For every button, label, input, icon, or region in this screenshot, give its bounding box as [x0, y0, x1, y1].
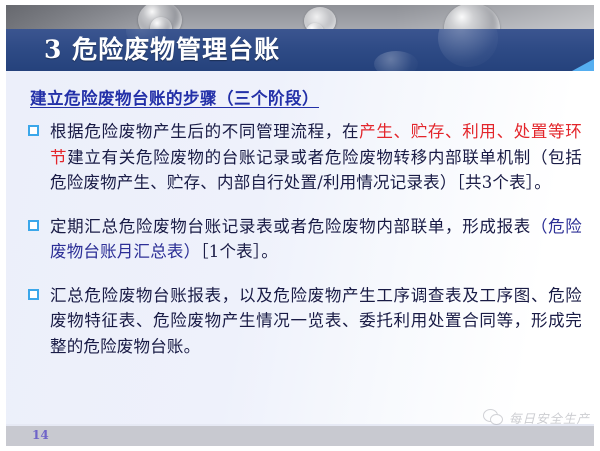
slide-footer: 14 [6, 426, 594, 446]
bullet-paragraph-2: 定期汇总危险废物台账记录表或者危险废物内部联单，形成报表（危险废物台账月汇总表）… [50, 214, 582, 265]
slide-content: 建立危险废物台账的步骤（三个阶段） 根据危险废物产生后的不同管理流程，在产生、贮… [6, 71, 594, 426]
text-segment-normal: ［1个表］。 [200, 242, 278, 261]
content-subheading: 建立危险废物台账的步骤（三个阶段） [30, 85, 319, 109]
square-bullet-icon [28, 220, 39, 231]
water-droplet-icon [438, 29, 498, 67]
square-bullet-icon [28, 289, 39, 300]
text-segment-normal: 建立有关危险废物的台账记录或者危险废物转移内部联单机制（包括危险废物产生、贮存、… [50, 148, 582, 193]
text-segment-normal: 根据危险废物产生后的不同管理流程，在 [50, 122, 359, 141]
text-segment-normal: 汇总危险废物台账报表，以及危险废物产生工序调查表及工序图、危险废物特征表、危险废… [50, 286, 582, 356]
bullet-list: 根据危险废物产生后的不同管理流程，在产生、贮存、利用、处置等环节建立有关危险废物… [26, 119, 582, 377]
list-item: 汇总危险废物台账报表，以及危险废物产生工序调查表及工序图、危险废物特征表、危险废… [26, 283, 582, 360]
slide-title: 3 危险废物管理台账 [44, 31, 280, 69]
list-item: 根据危险废物产生后的不同管理流程，在产生、贮存、利用、处置等环节建立有关危险废物… [26, 119, 582, 196]
page-number: 14 [32, 428, 49, 442]
presentation-slide: 3 危险废物管理台账 建立危险废物台账的步骤（三个阶段） 根据危险废物产生后的不… [0, 0, 600, 451]
water-droplet-icon [374, 51, 418, 71]
list-item: 定期汇总危险废物台账记录表或者危险废物内部联单，形成报表（危险废物台账月汇总表）… [26, 214, 582, 265]
square-bullet-icon [28, 125, 39, 136]
slide-frame: 3 危险废物管理台账 建立危险废物台账的步骤（三个阶段） 根据危险废物产生后的不… [6, 5, 594, 446]
bullet-paragraph-1: 根据危险废物产生后的不同管理流程，在产生、贮存、利用、处置等环节建立有关危险废物… [50, 119, 582, 196]
bullet-paragraph-3: 汇总危险废物台账报表，以及危险废物产生工序调查表及工序图、危险废物特征表、危险废… [50, 283, 582, 360]
text-segment-normal: 定期汇总危险废物台账记录表或者危险废物内部联单，形成报表 [50, 217, 531, 236]
